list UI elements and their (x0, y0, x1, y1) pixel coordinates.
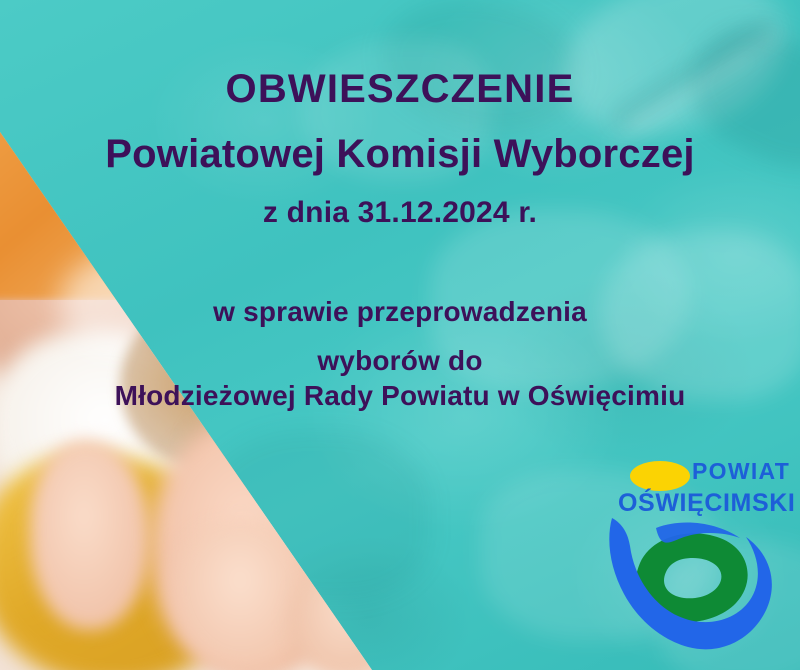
announcement-date: z dnia 31.12.2024 r. (0, 197, 800, 229)
powiat-oswiecimski-logo: POWIAT OŚWIĘCIMSKI (608, 450, 798, 665)
poster-canvas: OBWIESZCZENIE Powiatowej Komisji Wyborcz… (0, 0, 800, 670)
logo-swoosh-icon (604, 510, 794, 665)
subject-line-3: Młodzieżowej Rady Powiatu w Oświęcimiu (0, 381, 800, 410)
announcement-title: OBWIESZCZENIE (0, 68, 800, 110)
subject-line-2: wyborów do (0, 346, 800, 375)
photo-shape-hand (30, 440, 150, 630)
logo-yellow-ellipse-icon (630, 461, 690, 491)
subject-line-1: w sprawie przeprowadzenia (0, 297, 800, 326)
announcement-subtitle: Powiatowej Komisji Wyborczej (0, 133, 800, 175)
logo-word-powiat: POWIAT (692, 460, 790, 483)
